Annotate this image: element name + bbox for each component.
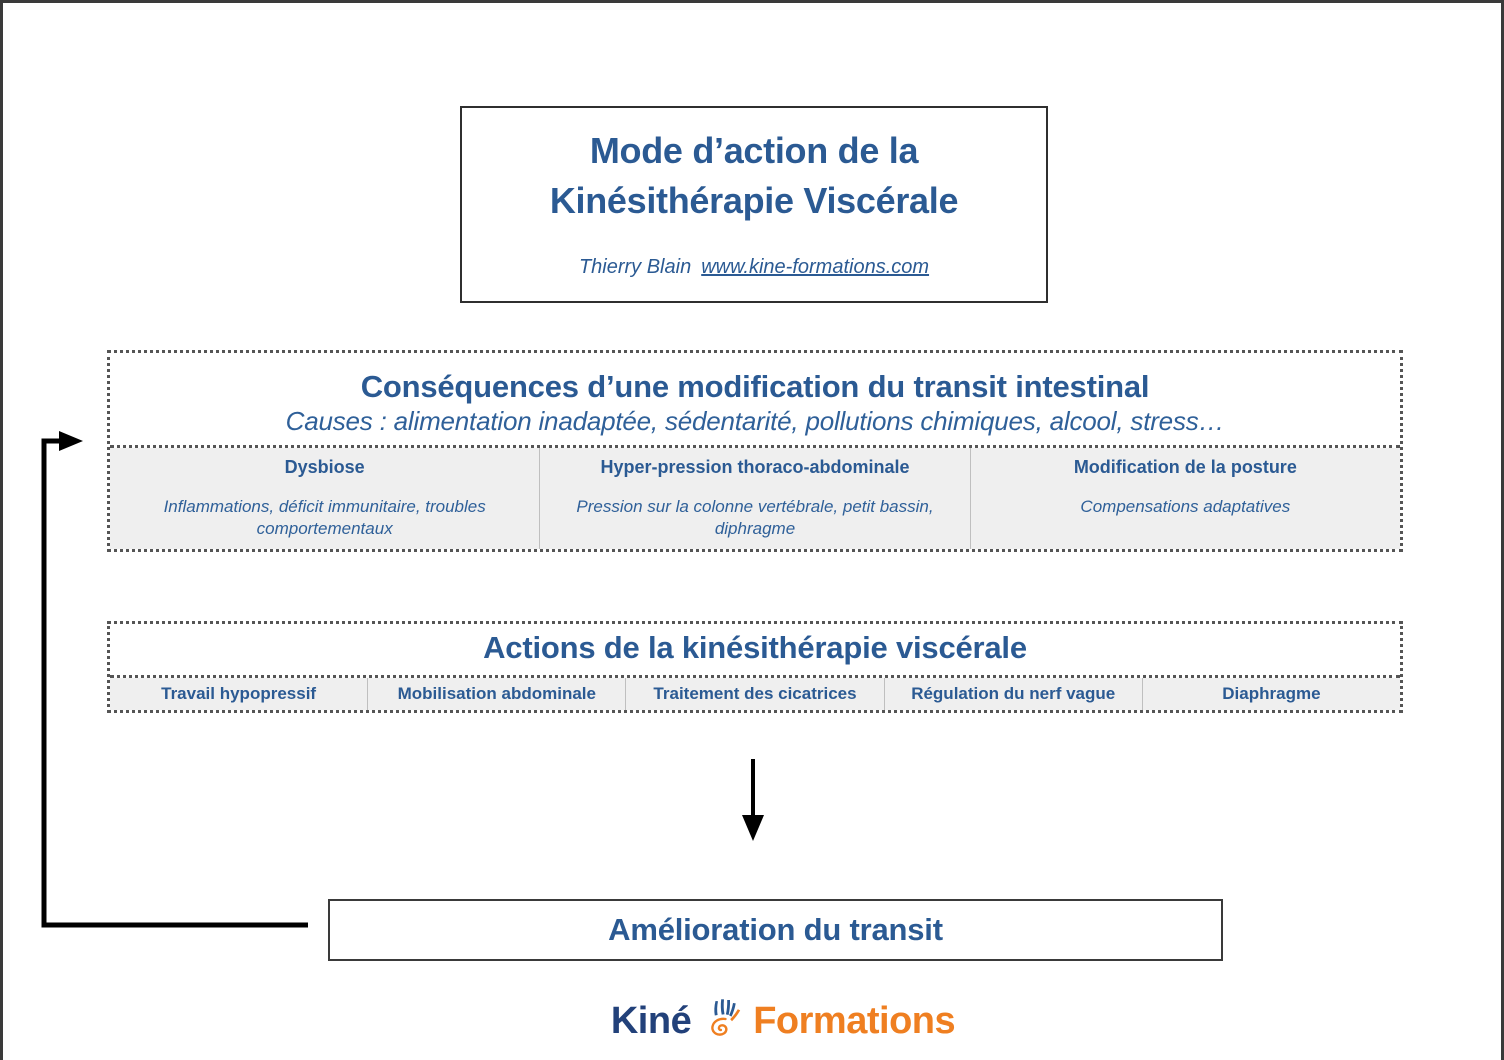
action-cell-mobilisation-abdominale: Mobilisation abdominale [368,678,626,710]
action-cell-regulation-nerf-vague: Régulation du nerf vague [885,678,1143,710]
byline: Thierry Blainwww.kine-formations.com [462,256,1046,279]
result-box: Amélioration du transit [328,899,1223,961]
hand-spiral-icon [701,996,747,1047]
consequence-body: Pression sur la colonne vertébrale, peti… [550,496,959,540]
action-cell-diaphragme: Diaphragme [1143,678,1400,710]
title-line-2: Kinésithérapie Viscérale [462,176,1046,226]
website-link[interactable]: www.kine-formations.com [701,256,929,278]
action-cell-traitement-cicatrices: Traitement des cicatrices [626,678,884,710]
slide-canvas: Mode d’action de la Kinésithérapie Viscé… [0,0,1504,1060]
consequences-heading: Conséquences d’une modification du trans… [110,353,1400,405]
consequence-head: Modification de la posture [981,456,1390,478]
result-label: Amélioration du transit [330,901,1221,959]
logo-word-kine: Kiné [611,1000,691,1043]
feedback-loop-arrow-icon [33,428,323,938]
title-card: Mode d’action de la Kinésithérapie Viscé… [460,106,1048,303]
title-line-1: Mode d’action de la [462,126,1046,176]
consequence-body: Compensations adaptatives [981,496,1390,518]
logo-word-formations: Formations [753,1000,955,1043]
consequence-cell-hyperpression: Hyper-pression thoraco-abdominale Pressi… [540,448,970,549]
brand-logo: Kiné Formations [603,995,963,1047]
consequence-head: Hyper-pression thoraco-abdominale [550,456,959,478]
consequence-cell-posture: Modification de la posture Compensations… [971,448,1400,549]
author-name: Thierry Blain [579,256,691,278]
arrow-down-icon [738,759,768,843]
